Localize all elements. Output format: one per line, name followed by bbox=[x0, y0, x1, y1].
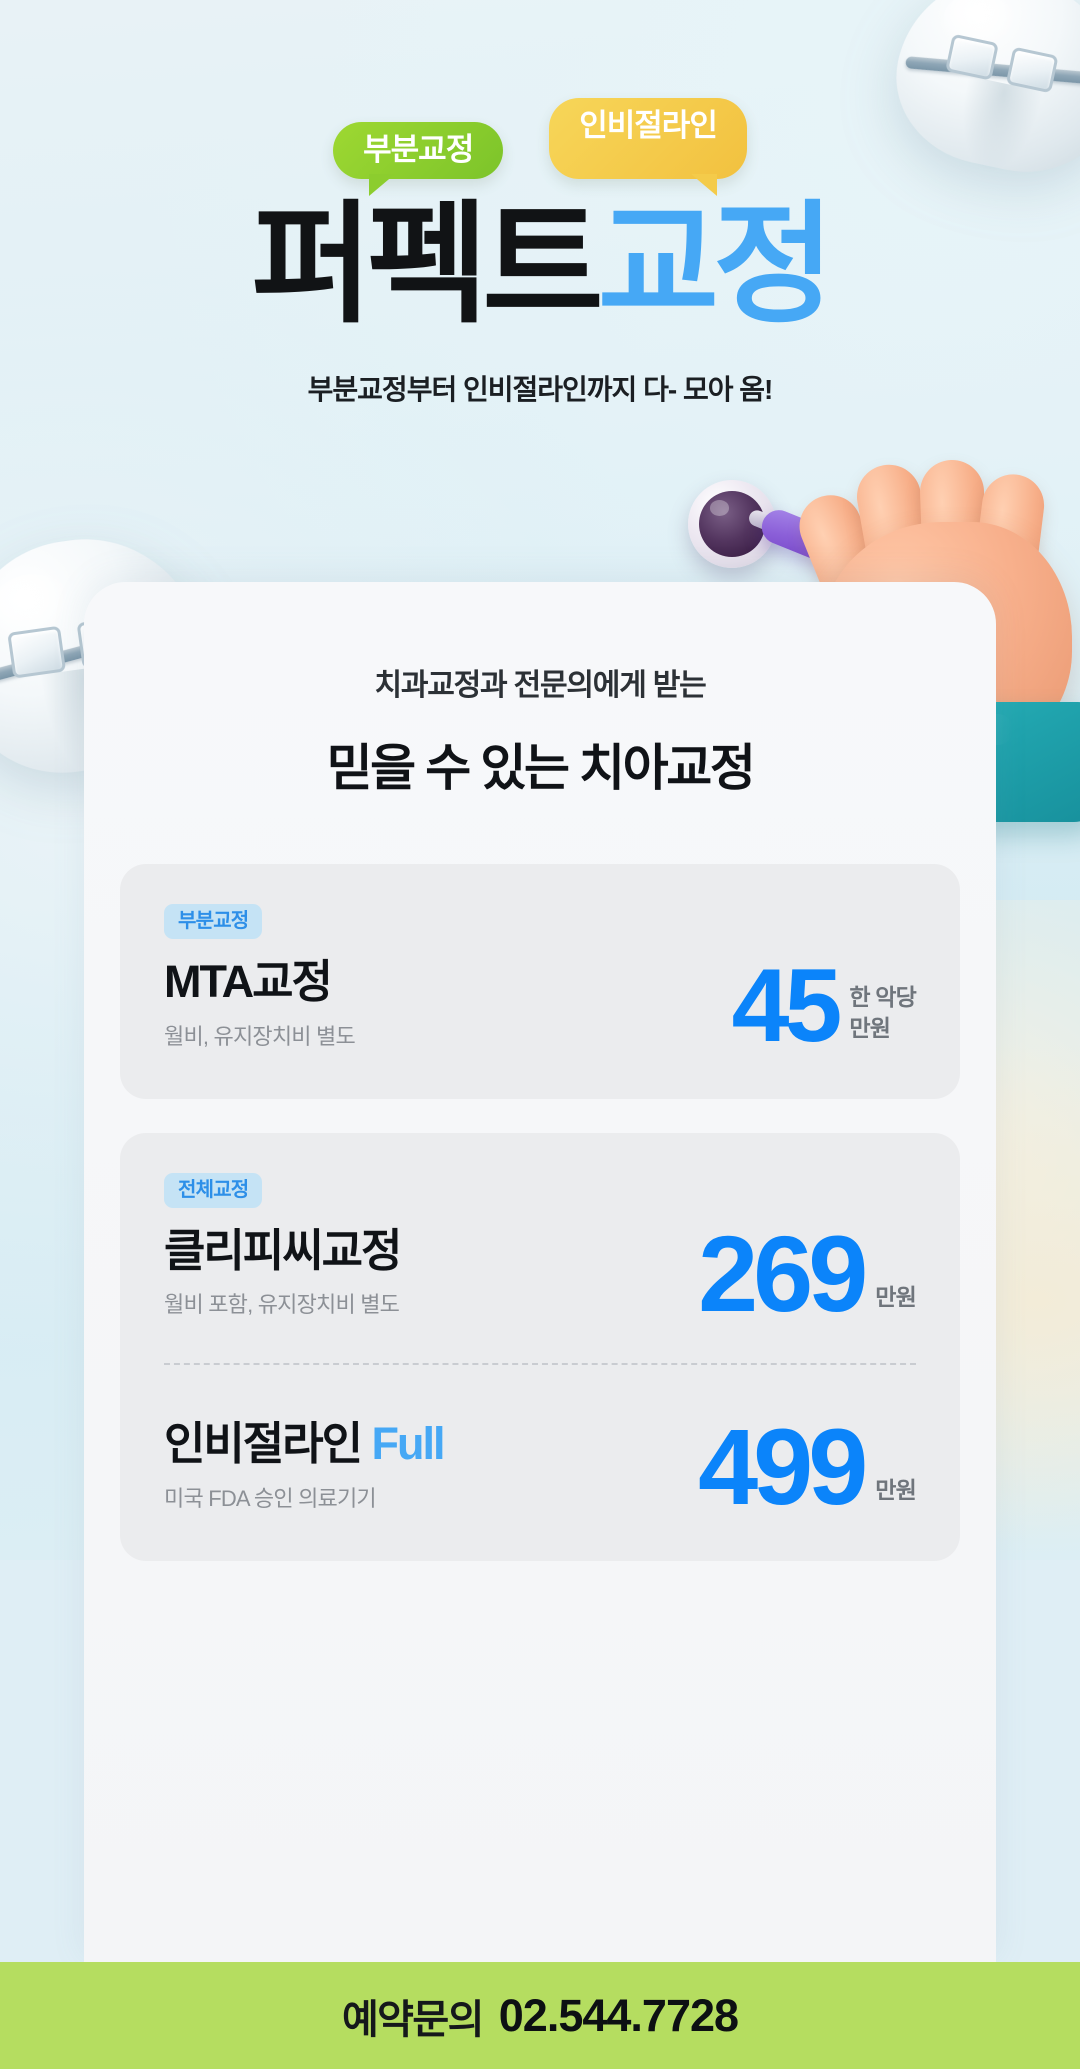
price-value: 499 bbox=[698, 1419, 863, 1514]
pricing-row: 클리피씨교정 월비 포함, 유지장치비 별도 269 만원 bbox=[164, 1208, 916, 1324]
hero-badge-group: 부분교정 인비절라인 bbox=[0, 122, 1080, 179]
price-unit-line: 만원 bbox=[875, 1282, 916, 1313]
item-name: 클리피씨교정 bbox=[164, 1226, 400, 1276]
pricing-row-info: 인비절라인 Full 미국 FDA 승인 의료기기 bbox=[164, 1401, 444, 1517]
price-unit-line: 만원 bbox=[875, 1475, 916, 1506]
divider bbox=[164, 1363, 916, 1365]
pricing-row-info: MTA교정 월비, 유지장치비 별도 bbox=[164, 939, 355, 1055]
price-unit: 한 악당 만원 bbox=[849, 982, 916, 1052]
price-value: 45 bbox=[732, 961, 838, 1053]
panel-title: 믿을 수 있는 치아교정 bbox=[84, 728, 996, 800]
status-badge: 부분교정 bbox=[164, 904, 262, 939]
item-note: 월비, 유지장치비 별도 bbox=[164, 1019, 355, 1051]
price-unit: 만원 bbox=[875, 1282, 916, 1321]
item-name-accent: Full bbox=[372, 1418, 444, 1469]
price-unit: 만원 bbox=[875, 1475, 916, 1514]
footer-phone-number[interactable]: 02.544.7728 bbox=[499, 1990, 738, 2042]
poster-root: 부분교정 인비절라인 퍼펙트교정 부분교정부터 인비절라인까지 다- 모아 옴!… bbox=[0, 0, 1080, 2069]
price-group: 269 만원 bbox=[698, 1226, 916, 1323]
pricing-panel: 치과교정과 전문의에게 받는 믿을 수 있는 치아교정 부분교정 MTA교정 월… bbox=[84, 582, 996, 1962]
item-name-main: 인비절라인 bbox=[164, 1418, 361, 1469]
pricing-panel-header: 치과교정과 전문의에게 받는 믿을 수 있는 치아교정 bbox=[84, 582, 996, 800]
badge-partial-correction: 부분교정 bbox=[333, 122, 503, 179]
badge-label: 인비절라인 bbox=[579, 108, 717, 143]
pricing-card-full[interactable]: 전체교정 클리피씨교정 월비 포함, 유지장치비 별도 269 만원 bbox=[120, 1133, 960, 1561]
hero-title-dark: 퍼펙트 bbox=[251, 191, 597, 338]
footer-label: 예약문의 bbox=[342, 1987, 483, 2045]
pricing-row-info: 클리피씨교정 월비 포함, 유지장치비 별도 bbox=[164, 1208, 400, 1324]
price-group: 45 한 악당 만원 bbox=[732, 961, 916, 1055]
badge-label: 부분교정 bbox=[363, 132, 473, 167]
panel-eyebrow: 치과교정과 전문의에게 받는 bbox=[84, 660, 996, 704]
hero-subtitle: 부분교정부터 인비절라인까지 다- 모아 옴! bbox=[0, 368, 1080, 408]
badge-invisalign: 인비절라인 bbox=[549, 98, 747, 179]
item-note: 월비 포함, 유지장치비 별도 bbox=[164, 1287, 400, 1319]
hero-title-blue: 교정 bbox=[598, 191, 829, 338]
item-name: MTA교정 bbox=[164, 957, 355, 1007]
price-unit-line: 한 악당 bbox=[849, 982, 916, 1013]
pricing-row: MTA교정 월비, 유지장치비 별도 45 한 악당 만원 bbox=[164, 939, 916, 1055]
hero-title: 퍼펙트교정 bbox=[0, 196, 1080, 333]
contact-footer-bar[interactable]: 예약문의 02.544.7728 bbox=[0, 1962, 1080, 2069]
item-name: 인비절라인 Full bbox=[164, 1419, 444, 1469]
status-badge: 전체교정 bbox=[164, 1173, 262, 1208]
braces-bracket-icon bbox=[7, 626, 65, 679]
item-note: 미국 FDA 승인 의료기기 bbox=[164, 1481, 444, 1513]
price-value: 269 bbox=[698, 1226, 863, 1321]
pricing-card-list: 부분교정 MTA교정 월비, 유지장치비 별도 45 한 악당 만원 bbox=[84, 800, 996, 1561]
pricing-card-mta[interactable]: 부분교정 MTA교정 월비, 유지장치비 별도 45 한 악당 만원 bbox=[120, 864, 960, 1099]
price-unit-line: 만원 bbox=[849, 1013, 916, 1044]
pricing-row: 인비절라인 Full 미국 FDA 승인 의료기기 499 만원 bbox=[164, 1401, 916, 1517]
price-group: 499 만원 bbox=[698, 1419, 916, 1516]
